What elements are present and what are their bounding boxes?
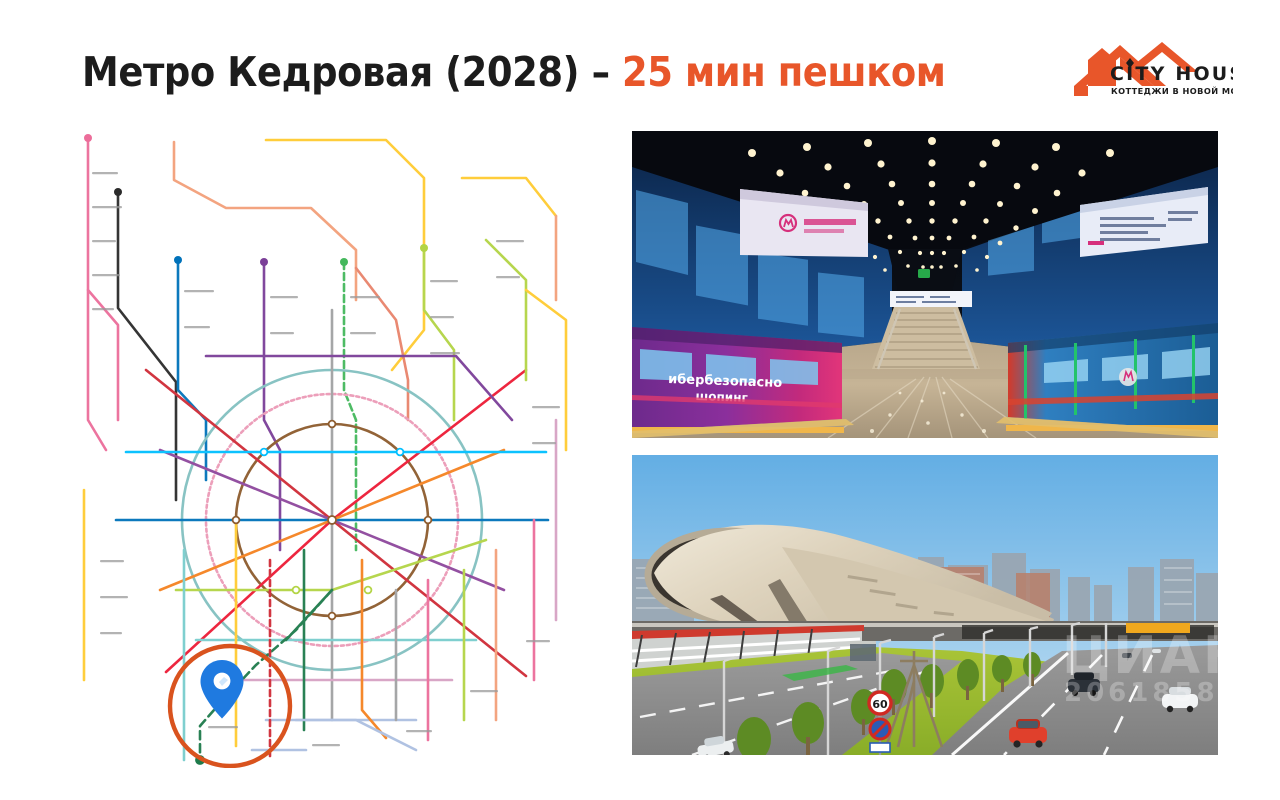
brand-logo[interactable]: CITY HOUSE КОТТЕДЖИ В НОВОЙ МОСКВЕ xyxy=(1058,38,1233,104)
slide-root: Метро Кедровая (2028) – 25 мин пешком CI… xyxy=(0,0,1280,800)
train-left: ибербезопасно шопинг xyxy=(632,327,844,433)
watermark: ЦИАН 2061858 xyxy=(1062,626,1218,708)
svg-text:ЦИАН: ЦИАН xyxy=(1062,626,1218,686)
svg-text:2061858: 2061858 xyxy=(1064,678,1218,708)
logo-icon: CITY HOUSE КОТТЕДЖИ В НОВОЙ МОСКВЕ xyxy=(1058,38,1233,104)
speed-limit-value: 60 xyxy=(872,698,888,711)
station-interior-graphic: ибербезопасно шопинг xyxy=(632,131,1218,438)
photo-station-exterior[interactable]: 60 xyxy=(632,455,1218,755)
page-title-main: Метро Кедровая (2028) – xyxy=(82,48,622,96)
metro-map-graphic xyxy=(56,120,608,768)
header: Метро Кедровая (2028) – 25 мин пешком CI… xyxy=(0,0,1280,125)
page-title: Метро Кедровая (2028) – 25 мин пешком xyxy=(82,47,946,97)
metro-map[interactable] xyxy=(56,120,608,768)
logo-tagline: КОТТЕДЖИ В НОВОЙ МОСКВЕ xyxy=(1111,85,1233,96)
photo-station-interior[interactable]: ибербезопасно шопинг xyxy=(632,131,1218,438)
page-title-accent: 25 мин пешком xyxy=(622,48,946,96)
logo-wordmark: CITY HOUSE xyxy=(1110,63,1233,85)
station-exterior-graphic: 60 xyxy=(632,455,1218,755)
speed-limit-sign: 60 xyxy=(869,692,891,755)
